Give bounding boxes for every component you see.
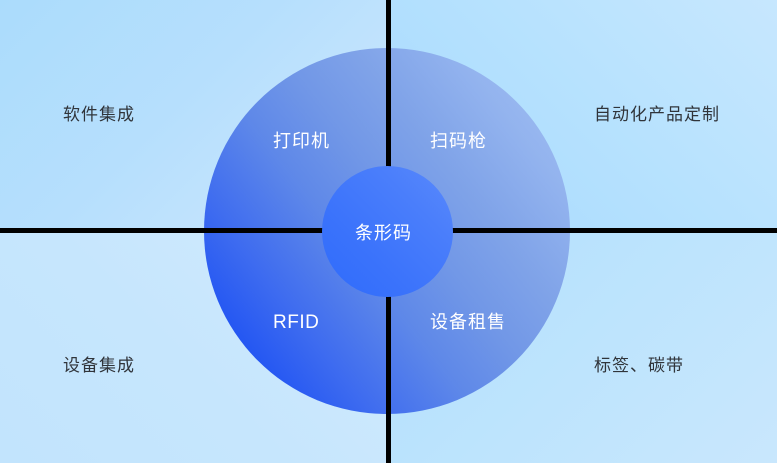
- quadrant-label-automation-custom: 自动化产品定制: [594, 106, 720, 123]
- quadrant-label-software-integration: 软件集成: [63, 106, 135, 123]
- ring-label-printer: 打印机: [273, 132, 330, 150]
- diagram-canvas: 软件集成 自动化产品定制 设备集成 标签、碳带 打印机 扫码枪 RFID 设备租…: [0, 0, 777, 463]
- core-label-barcode: 条形码: [355, 224, 412, 242]
- ring-label-rfid: RFID: [273, 313, 319, 332]
- ring-label-scanner: 扫码枪: [430, 132, 487, 150]
- ring-label-device-rental: 设备租售: [430, 313, 506, 331]
- quadrant-label-device-integration: 设备集成: [63, 357, 135, 374]
- quadrant-label-labels-ribbons: 标签、碳带: [594, 357, 684, 374]
